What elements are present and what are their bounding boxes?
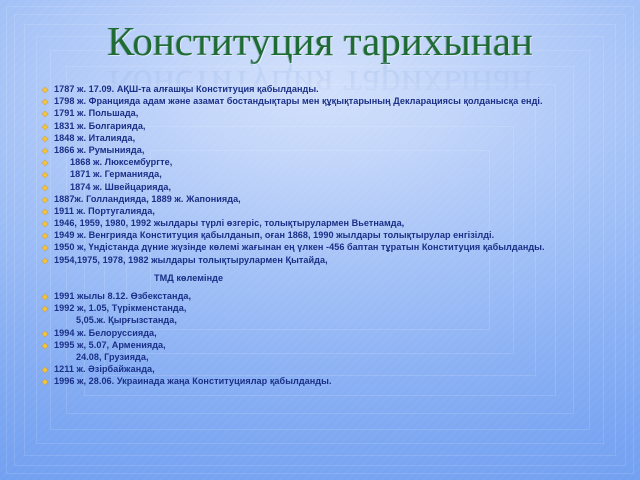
diamond-bullet-icon	[38, 182, 54, 194]
list-item: 1946, 1959, 1980, 1992 жылдары түрлі өзг…	[38, 218, 634, 230]
list-item-label: 1911 ж. Португалияда,	[54, 206, 155, 218]
list-item-label: 1996 ж, 28.06. Украинада жаңа Конституци…	[54, 376, 332, 388]
diamond-bullet-icon	[38, 376, 54, 388]
diamond-bullet-icon	[38, 84, 54, 96]
bullet-placeholder	[38, 352, 54, 364]
list-item-label: 1787 ж. 17.09. АҚШ-та алғашқы Конституци…	[54, 84, 319, 96]
list-item-label: 1791 ж. Польшада,	[54, 108, 138, 120]
list-item: 1950 ж, Үндістанда дүние жүзінде көлемі …	[38, 242, 634, 254]
diamond-bullet-icon	[38, 230, 54, 242]
list-item-label: 1798 ж. Францияда адам және азамат боста…	[54, 96, 543, 108]
diamond-bullet-icon	[38, 145, 54, 157]
list-item: 1798 ж. Францияда адам және азамат боста…	[38, 96, 634, 108]
diamond-bullet-icon	[38, 242, 54, 254]
list-item-label: 1874 ж. Швейцарияда,	[54, 182, 171, 194]
diamond-bullet-icon	[38, 157, 54, 169]
list-item: 1996 ж, 28.06. Украинада жаңа Конституци…	[38, 376, 634, 388]
list-item: 1995 ж, 5.07, Арменияда,	[38, 340, 634, 352]
list-item: 1949 ж. Венгрияда Конституция қабылданып…	[38, 230, 634, 242]
diamond-bullet-icon	[38, 255, 54, 267]
bullet-placeholder	[38, 273, 54, 285]
list-item: 1831 ж. Болгарияда,	[38, 121, 634, 133]
list-item: 1787 ж. 17.09. АҚШ-та алғашқы Конституци…	[38, 84, 634, 96]
diamond-bullet-icon	[38, 133, 54, 145]
diamond-bullet-icon	[38, 340, 54, 352]
diamond-bullet-icon	[38, 364, 54, 376]
list-item-label: 1992 ж, 1.05, Түрікменстанда,	[54, 303, 186, 315]
list-item: 1954,1975, 1978, 1982 жылдары толықтырул…	[38, 255, 634, 267]
slide-title-area: Конституция тарихынан Конституция тарихы…	[0, 18, 640, 80]
list-item: 1848 ж. Италияда,	[38, 133, 634, 145]
list-item-label: 1950 ж, Үндістанда дүние жүзінде көлемі …	[54, 242, 545, 254]
list-item-label: 5,05.ж. Қырғызстанда,	[54, 315, 177, 327]
list-item-label: 1887ж. Голландияда, 1889 ж. Жапонияда,	[54, 194, 241, 206]
list-item: 1994 ж. Белоруссияда,	[38, 328, 634, 340]
diamond-bullet-icon	[38, 206, 54, 218]
list-item-label: 1831 ж. Болгарияда,	[54, 121, 146, 133]
list-item-label: 24.08, Грузияда,	[54, 352, 149, 364]
list-item: 5,05.ж. Қырғызстанда,	[38, 315, 634, 327]
diamond-bullet-icon	[38, 291, 54, 303]
list-item-label: 1871 ж. Германияда,	[54, 169, 162, 181]
list-item-label: 1866 ж. Румынияда,	[54, 145, 144, 157]
diamond-bullet-icon	[38, 303, 54, 315]
list-item: 1887ж. Голландияда, 1889 ж. Жапонияда,	[38, 194, 634, 206]
diamond-bullet-icon	[38, 218, 54, 230]
diamond-bullet-icon	[38, 194, 54, 206]
list-item: 24.08, Грузияда,	[38, 352, 634, 364]
list-item: 1791 ж. Польшада,	[38, 108, 634, 120]
bullet-placeholder	[38, 315, 54, 327]
list-item: 1871 ж. Германияда,	[38, 169, 634, 181]
list-item-label: 1991 жылы 8.12. Өзбекстанда,	[54, 291, 191, 303]
list-item: 1991 жылы 8.12. Өзбекстанда,	[38, 291, 634, 303]
list-item: ТМД көлемінде	[38, 273, 634, 285]
list-item: 1874 ж. Швейцарияда,	[38, 182, 634, 194]
diamond-bullet-icon	[38, 96, 54, 108]
list-item-label: 1954,1975, 1978, 1982 жылдары толықтырул…	[54, 255, 328, 267]
list-item-label: 1946, 1959, 1980, 1992 жылдары түрлі өзг…	[54, 218, 404, 230]
presentation-slide: Конституция тарихынан Конституция тарихы…	[0, 0, 640, 480]
diamond-bullet-icon	[38, 169, 54, 181]
list-item-label: ТМД көлемінде	[54, 273, 223, 285]
list-item-label: 1949 ж. Венгрияда Конституция қабылданып…	[54, 230, 494, 242]
list-item: 1866 ж. Румынияда,	[38, 145, 634, 157]
diamond-bullet-icon	[38, 121, 54, 133]
list-item-label: 1994 ж. Белоруссияда,	[54, 328, 157, 340]
list-item: 1211 ж. Әзірбайжанда,	[38, 364, 634, 376]
list-item: 1911 ж. Португалияда,	[38, 206, 634, 218]
diamond-bullet-icon	[38, 108, 54, 120]
list-item-label: 1848 ж. Италияда,	[54, 133, 135, 145]
page-title: Конституция тарихынан	[0, 18, 640, 64]
list-item-label: 1868 ж. Люксембургте,	[54, 157, 172, 169]
list-item-label: 1211 ж. Әзірбайжанда,	[54, 364, 155, 376]
list-item: 1992 ж, 1.05, Түрікменстанда,	[38, 303, 634, 315]
list-item-label: 1995 ж, 5.07, Арменияда,	[54, 340, 166, 352]
diamond-bullet-icon	[38, 328, 54, 340]
slide-body-list: 1787 ж. 17.09. АҚШ-та алғашқы Конституци…	[38, 84, 634, 389]
list-item: 1868 ж. Люксембургте,	[38, 157, 634, 169]
